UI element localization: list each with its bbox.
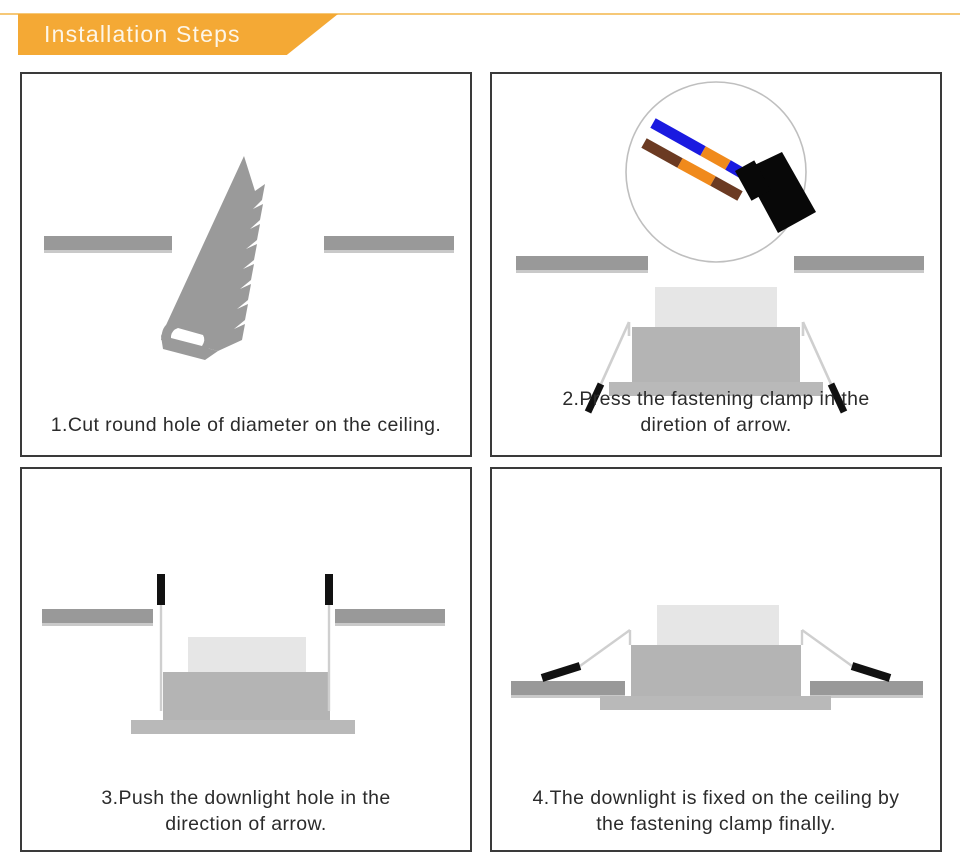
step-panel-2: 2.Press the fastening clamp in the diret… — [490, 72, 942, 457]
step-panel-4: 4.The downlight is fixed on the ceiling … — [490, 467, 942, 852]
step-1-illustration — [22, 74, 470, 414]
step-3-overlay — [22, 469, 472, 809]
step-4-caption-line-2: the fastening clamp finally. — [502, 812, 930, 838]
step-4-illustration — [492, 469, 940, 809]
step-3-caption-line-2: direction of arrow. — [32, 812, 460, 838]
step-2-overlay — [492, 74, 942, 414]
step-2-caption: 2.Press the fastening clamp in the diret… — [502, 387, 930, 439]
step-3-caption: 3.Push the downlight hole in the directi… — [32, 786, 460, 838]
step-2-caption-line-2: diretion of arrow. — [502, 413, 930, 439]
clamp-spring-right — [802, 630, 890, 678]
arrow-right — [852, 666, 890, 678]
step-3-caption-line-1: 3.Push the downlight hole in the — [32, 786, 460, 812]
clamp-spring-left — [542, 630, 630, 678]
steps-grid: 1.Cut round hole of diameter on the ceil… — [20, 72, 942, 852]
step-4-caption: 4.The downlight is fixed on the ceiling … — [502, 786, 930, 838]
step-1-caption: 1.Cut round hole of diameter on the ceil… — [32, 413, 460, 439]
step-2-illustration — [492, 74, 940, 414]
step-panel-3: 3.Push the downlight hole in the directi… — [20, 467, 472, 852]
installation-steps-page: Installation Steps 1.Cut round hole o — [0, 0, 960, 864]
step-panel-1: 1.Cut round hole of diameter on the ceil… — [20, 72, 472, 457]
page-title: Installation Steps — [44, 21, 241, 48]
step-4-overlay — [492, 469, 942, 809]
hand-saw-icon — [22, 74, 472, 414]
step-4-caption-line-1: 4.The downlight is fixed on the ceiling … — [502, 786, 930, 812]
step-3-illustration — [22, 469, 470, 809]
arrow-left — [542, 666, 580, 678]
step-2-caption-line-1: 2.Press the fastening clamp in the — [502, 387, 930, 413]
